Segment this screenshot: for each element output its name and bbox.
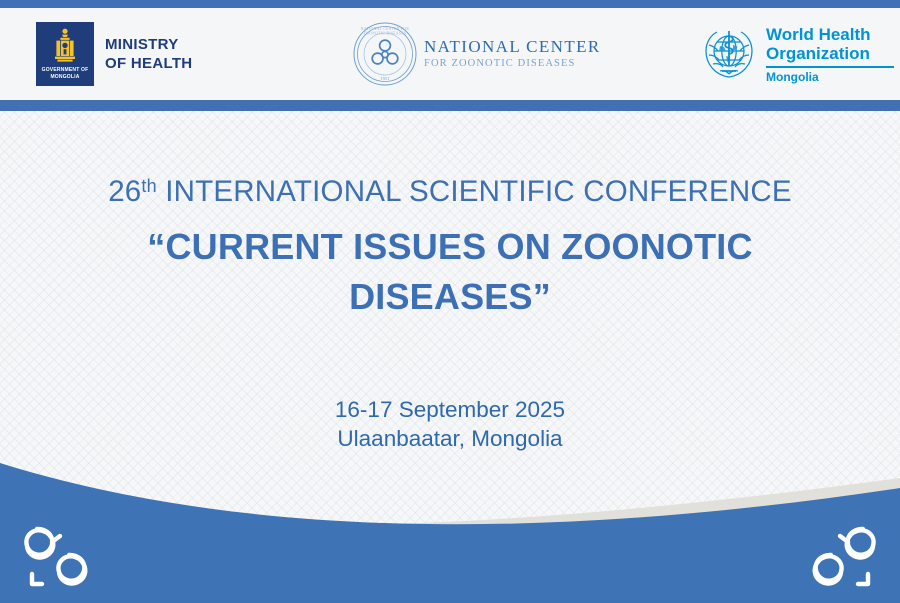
header-bottom-accent-bar [0,100,900,111]
triquetra-lower [815,555,842,583]
triquetra-upper [847,529,874,557]
ministry-of-health-label: MINISTRY OF HEALTH [105,35,192,73]
conference-location: Ulaanbaatar, Mongolia [0,424,900,453]
triquetra-upper [26,529,53,557]
soyombo-symbol-icon [36,27,94,65]
conference-ordinal-suffix: th [141,176,156,196]
conference-heading-text: INTERNATIONAL SCIENTIFIC CONFERENCE [157,175,792,208]
mongolia-government-emblem: GOVERNMENT OF MONGOLIA [36,22,94,86]
wave-blue-path [0,463,900,603]
zoonotic-center-text: NATIONAL CENTER FOR ZOONOTIC DISEASES [424,37,601,71]
conference-heading: 26th INTERNATIONAL SCIENTIFIC CONFERENCE [0,169,900,209]
logo-national-center-zoonotic-diseases: 1951 NATIONAL CENTER FOR ZOONOTIC DISEAS… [352,8,601,100]
logo-header-band: GOVERNMENT OF MONGOLIA MINISTRY OF HEALT… [0,8,900,100]
knot-corner-accent-1 [32,574,42,584]
who-text: World Health Organization Mongolia [766,25,894,84]
seal-year-text: 1951 [380,76,390,81]
zoonotic-center-title: NATIONAL CENTER [424,37,601,57]
zoonotic-center-subtitle: FOR ZOONOTIC DISEASES [424,57,601,71]
emblem-government-text: GOVERNMENT OF [36,67,94,73]
top-accent-bar [0,0,900,8]
triquetra-lower [58,555,85,583]
emblem-country-text: MONGOLIA [36,74,94,80]
who-country-label: Mongolia [766,70,894,84]
conference-title-slide: 26th INTERNATIONAL SCIENTIFIC CONFERENCE… [0,0,900,603]
mongolian-knot-ornament-right [798,522,884,596]
knot-corner-accent-1 [858,574,868,584]
conference-topic-title: “CURRENT ISSUES ON ZOONOTIC DISEASES” [0,222,900,322]
svg-text:NATIONAL CENTER FOR: NATIONAL CENTER FOR [361,27,410,31]
mongolian-knot-ornament-left [16,522,102,596]
conference-date: 16-17 September 2025 [0,395,900,424]
svg-text:ZOONOTIC DISEASES: ZOONOTIC DISEASES [364,32,407,36]
who-emblem-icon [700,25,758,83]
slide-text-block: 26th INTERNATIONAL SCIENTIFIC CONFERENCE… [0,111,900,453]
who-divider-rule [766,66,894,68]
zoonotic-center-seal-icon: 1951 NATIONAL CENTER FOR ZOONOTIC DISEAS… [352,21,418,87]
logo-ministry-of-health: GOVERNMENT OF MONGOLIA MINISTRY OF HEALT… [36,8,192,100]
conference-ordinal-number: 26 [108,175,141,208]
who-name-label: World Health Organization [766,25,894,63]
logo-world-health-organization: World Health Organization Mongolia [700,8,894,100]
